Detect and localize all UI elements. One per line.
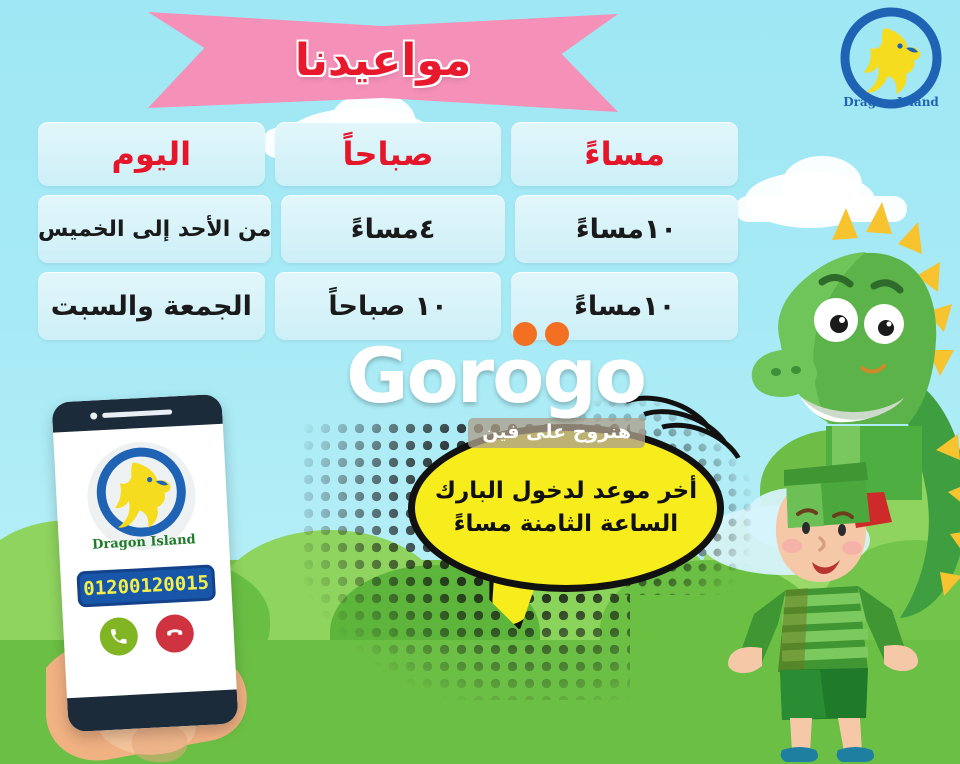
decline-call-button[interactable] — [155, 614, 195, 654]
cell-day-weekend: الجمعة والسبت — [38, 272, 265, 340]
header-label-evening: مساءً — [584, 135, 665, 173]
value-evening-weekend: ١٠مساءً — [574, 291, 675, 322]
schedule-table: مساءً صباحاً اليوم ١٠مساءً ٤مساءً من الأ… — [38, 122, 738, 349]
dragon-island-logo: Dragon Island — [80, 437, 204, 561]
value-morning-weekend: ١٠ صباحاً — [328, 291, 447, 322]
value-evening-weekday: ١٠مساءً — [576, 214, 677, 245]
cell-morning-weekday: ٤مساءً — [281, 195, 504, 263]
phone-illustration: Dragon Island 01200120015 — [46, 398, 296, 764]
value-morning-weekday: ٤مساءً — [351, 214, 436, 245]
header-label-day: اليوم — [112, 135, 192, 173]
phone-number-field[interactable]: 01200120015 — [76, 564, 216, 607]
poster-canvas: Dragon Island مواعيدنا مساءً صباحاً اليو… — [0, 0, 960, 764]
cell-morning-weekend: ١٠ صباحاً — [275, 272, 502, 340]
value-day-weekend: الجمعة والسبت — [51, 291, 252, 322]
title-ribbon: مواعيدنا — [148, 12, 618, 112]
smartphone: Dragon Island 01200120015 — [51, 394, 238, 732]
header-label-morning: صباحاً — [342, 135, 433, 173]
svg-text:Dragon Island: Dragon Island — [843, 95, 939, 109]
cell-day-weekday: من الأحد إلى الخميس — [38, 195, 271, 263]
cell-evening-weekday: ١٠مساءً — [515, 195, 738, 263]
speech-bubble: أخر موعد لدخول البارك الساعة الثامنة مسا… — [408, 424, 724, 592]
front-camera-icon — [90, 412, 97, 419]
table-row: ١٠مساءً ٤مساءً من الأحد إلى الخميس — [38, 195, 738, 263]
page-title: مواعيدنا — [295, 35, 471, 86]
table-header-row: مساءً صباحاً اليوم — [38, 122, 738, 186]
header-cell-evening: مساءً — [511, 122, 738, 186]
header-cell-morning: صباحاً — [275, 122, 502, 186]
dragon-island-logo: Dragon Island — [836, 6, 946, 116]
table-row: ١٠مساءً ١٠ صباحاً الجمعة والسبت — [38, 272, 738, 340]
notice-line-1: أخر موعد لدخول البارك — [421, 475, 711, 508]
accept-call-button[interactable] — [99, 617, 139, 657]
phone-hangup-icon — [164, 623, 185, 644]
cell-evening-weekend: ١٠مساءً — [511, 272, 738, 340]
boy-in-dragon-hat — [716, 440, 946, 764]
speaker-grill-icon — [102, 409, 172, 418]
header-cell-day: اليوم — [38, 122, 265, 186]
phone-call-icon — [108, 626, 129, 647]
notice-line-2: الساعة الثامنة مساءً — [440, 508, 692, 541]
phone-earpiece-bar — [51, 394, 222, 433]
value-day-weekday: من الأحد إلى الخميس — [38, 217, 271, 242]
